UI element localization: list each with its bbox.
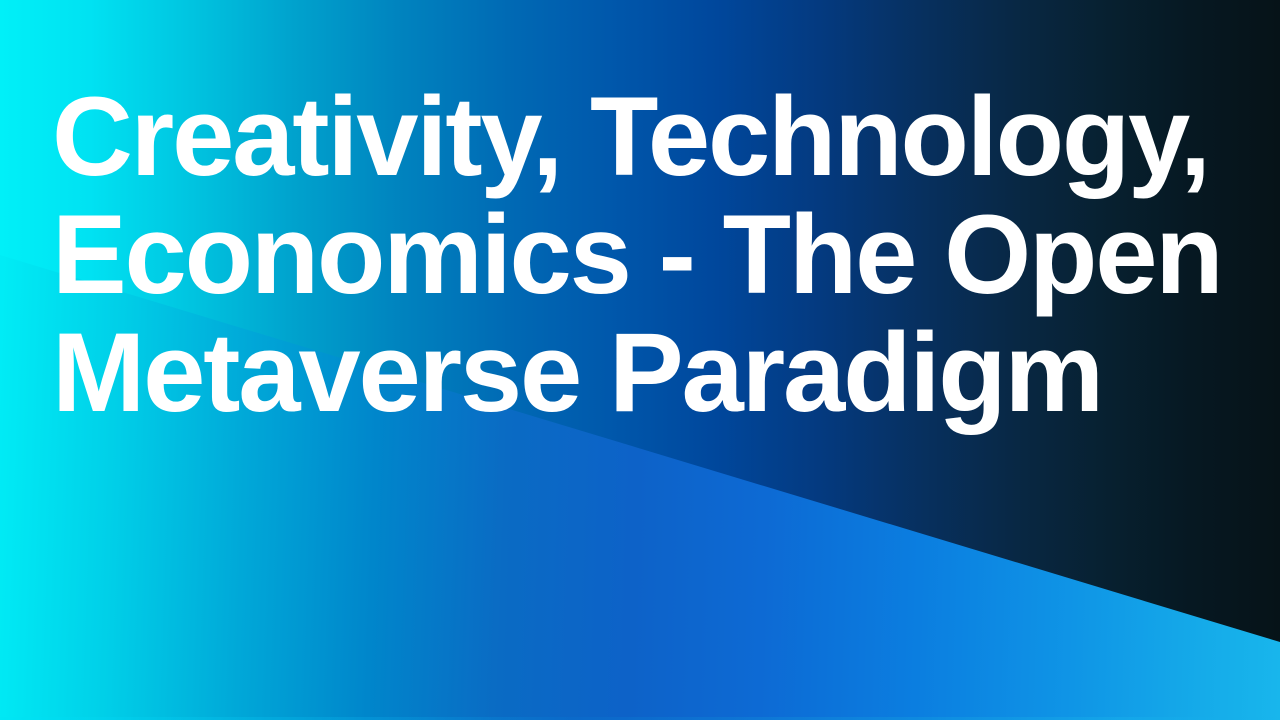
page-title: Creativity, Technology, Economics - The …	[52, 78, 1232, 432]
title-slide: Creativity, Technology, Economics - The …	[0, 0, 1280, 720]
title-line-2: Economics - The Open	[52, 196, 1232, 314]
title-line-3: Metaverse Paradigm	[52, 314, 1232, 432]
title-line-1: Creativity, Technology,	[52, 78, 1232, 196]
